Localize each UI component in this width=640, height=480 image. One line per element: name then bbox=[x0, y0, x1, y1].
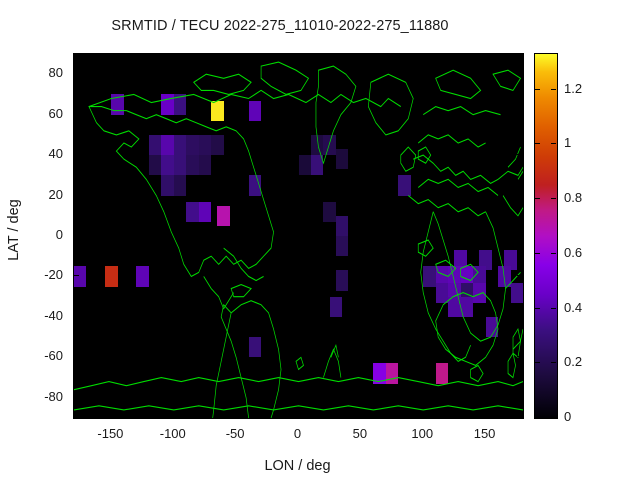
x-axis-tick-label: 0 bbox=[268, 427, 328, 440]
y-axis-tick bbox=[517, 397, 522, 398]
y-axis-tick-label: 80 bbox=[23, 66, 63, 79]
y-axis-tick bbox=[74, 275, 79, 276]
x-axis-tick-label: -150 bbox=[80, 427, 140, 440]
x-axis-tick bbox=[173, 412, 174, 417]
x-axis-tick bbox=[298, 54, 299, 59]
colorbar-tick bbox=[535, 143, 540, 144]
colorbar-tick bbox=[551, 308, 556, 309]
y-axis-tick bbox=[517, 316, 522, 317]
colorbar-tick bbox=[535, 89, 540, 90]
y-axis-tick-label: -60 bbox=[23, 349, 63, 362]
y-axis-tick bbox=[74, 235, 79, 236]
y-axis-tick bbox=[517, 195, 522, 196]
y-axis-tick bbox=[517, 235, 522, 236]
heatmap-layer bbox=[74, 54, 523, 418]
y-axis-title: LAT / deg bbox=[6, 170, 22, 290]
y-axis-tick-label: -80 bbox=[23, 390, 63, 403]
y-axis-tick bbox=[74, 316, 79, 317]
x-axis-tick bbox=[235, 54, 236, 59]
x-axis-tick bbox=[110, 412, 111, 417]
x-axis-tick bbox=[235, 412, 236, 417]
x-axis-tick bbox=[173, 54, 174, 59]
colorbar bbox=[534, 53, 558, 419]
y-axis-tick bbox=[74, 114, 79, 115]
y-axis-tick bbox=[517, 154, 522, 155]
y-axis-tick bbox=[517, 356, 522, 357]
x-axis-tick bbox=[298, 412, 299, 417]
x-axis-tick-label: 100 bbox=[392, 427, 452, 440]
coastline-overlay bbox=[74, 54, 523, 418]
y-axis-tick-label: -20 bbox=[23, 268, 63, 281]
x-axis-tick bbox=[360, 412, 361, 417]
colorbar-tick-label: 0.6 bbox=[564, 246, 624, 259]
y-axis-tick bbox=[74, 397, 79, 398]
chart-root: SRMTID / TECU 2022-275_11010-2022-275_11… bbox=[0, 0, 640, 480]
colorbar-tick-label: 0.8 bbox=[564, 191, 624, 204]
colorbar-tick bbox=[551, 89, 556, 90]
x-axis-title: LON / deg bbox=[73, 458, 522, 474]
x-axis-tick-label: -100 bbox=[143, 427, 203, 440]
x-axis-tick bbox=[422, 54, 423, 59]
x-axis-tick bbox=[422, 412, 423, 417]
x-axis-tick-label: 50 bbox=[330, 427, 390, 440]
y-axis-tick-label: 0 bbox=[23, 228, 63, 241]
chart-title: SRMTID / TECU 2022-275_11010-2022-275_11… bbox=[0, 18, 560, 34]
x-axis-tick bbox=[360, 54, 361, 59]
x-axis-tick bbox=[485, 412, 486, 417]
colorbar-tick bbox=[551, 198, 556, 199]
colorbar-tick-label: 0.4 bbox=[564, 301, 624, 314]
colorbar-tick-label: 1.2 bbox=[564, 82, 624, 95]
y-axis-tick bbox=[74, 195, 79, 196]
y-axis-tick-label: 60 bbox=[23, 107, 63, 120]
colorbar-tick bbox=[551, 417, 556, 418]
colorbar-tick bbox=[535, 198, 540, 199]
colorbar-tick bbox=[551, 253, 556, 254]
colorbar-tick bbox=[535, 308, 540, 309]
x-axis-tick-label: 150 bbox=[455, 427, 515, 440]
colorbar-tick bbox=[551, 143, 556, 144]
y-axis-tick-label: 40 bbox=[23, 147, 63, 160]
y-axis-tick-label: 20 bbox=[23, 188, 63, 201]
colorbar-tick-label: 1 bbox=[564, 136, 624, 149]
y-axis-tick bbox=[517, 275, 522, 276]
colorbar-tick bbox=[551, 362, 556, 363]
colorbar-tick bbox=[535, 253, 540, 254]
colorbar-tick bbox=[535, 417, 540, 418]
y-axis-tick bbox=[74, 356, 79, 357]
y-axis-tick-label: -40 bbox=[23, 309, 63, 322]
colorbar-tick bbox=[535, 362, 540, 363]
x-axis-tick bbox=[110, 54, 111, 59]
colorbar-tick-label: 0 bbox=[564, 410, 624, 423]
plot-area bbox=[73, 53, 524, 419]
y-axis-tick bbox=[517, 114, 522, 115]
x-axis-tick-label: -50 bbox=[205, 427, 265, 440]
y-axis-tick bbox=[74, 154, 79, 155]
y-axis-tick bbox=[74, 73, 79, 74]
colorbar-tick-label: 0.2 bbox=[564, 355, 624, 368]
y-axis-tick bbox=[517, 73, 522, 74]
colorbar-gradient bbox=[535, 54, 557, 418]
x-axis-tick bbox=[485, 54, 486, 59]
